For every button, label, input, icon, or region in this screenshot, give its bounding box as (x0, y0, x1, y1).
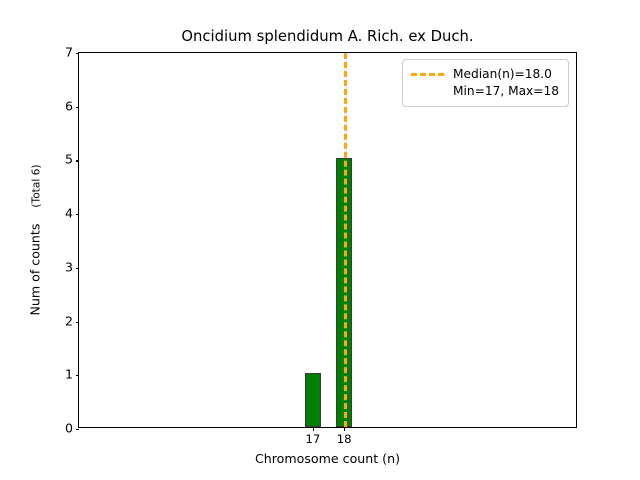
y-axis-label: Num of counts(Total 6) (29, 164, 44, 315)
plot-inner: 012345671718 (79, 53, 576, 427)
y-tick-label: 2 (65, 315, 73, 328)
legend-entry-median: Median(n)=18.0 (453, 66, 559, 83)
x-tick-label: 17 (306, 433, 321, 445)
x-tick-mark (313, 427, 314, 431)
figure-canvas: Oncidium splendidum A. Rich. ex Duch. Nu… (0, 0, 640, 480)
y-tick-mark (76, 322, 80, 323)
y-tick-mark (76, 107, 80, 108)
y-axis-label-total-note: (Total 6) (31, 164, 43, 223)
y-tick-label: 1 (65, 369, 73, 382)
legend-box: Median(n)=18.0 Min=17, Max=18 (402, 59, 569, 107)
y-tick-mark (76, 160, 80, 161)
y-tick-mark (76, 214, 80, 215)
y-tick-label: 4 (65, 208, 73, 221)
legend-entry-minmax: Min=17, Max=18 (453, 83, 559, 100)
y-tick-mark (76, 375, 80, 376)
median-reference-line (344, 53, 347, 427)
y-tick-mark (76, 429, 80, 430)
y-tick-label: 7 (65, 47, 73, 60)
y-tick-label: 3 (65, 262, 73, 275)
y-tick-mark (76, 53, 80, 54)
x-axis-label: Chromosome count (n) (78, 452, 577, 466)
y-axis-label-container: Num of counts(Total 6) (26, 52, 46, 428)
plot-area: 012345671718 Median(n)=18.0 Min=17, Max=… (78, 52, 577, 428)
bar-17 (305, 373, 321, 427)
y-tick-label: 0 (65, 423, 73, 436)
x-tick-label: 18 (337, 433, 352, 445)
chart-title: Oncidium splendidum A. Rich. ex Duch. (78, 28, 577, 46)
y-tick-label: 6 (65, 100, 73, 113)
y-axis-label-main: Num of counts (28, 224, 43, 316)
y-tick-label: 5 (65, 154, 73, 167)
x-tick-mark (344, 427, 345, 431)
legend-median-line-swatch (411, 73, 444, 76)
legend-text-group: Median(n)=18.0 Min=17, Max=18 (453, 66, 559, 100)
y-tick-mark (76, 268, 80, 269)
